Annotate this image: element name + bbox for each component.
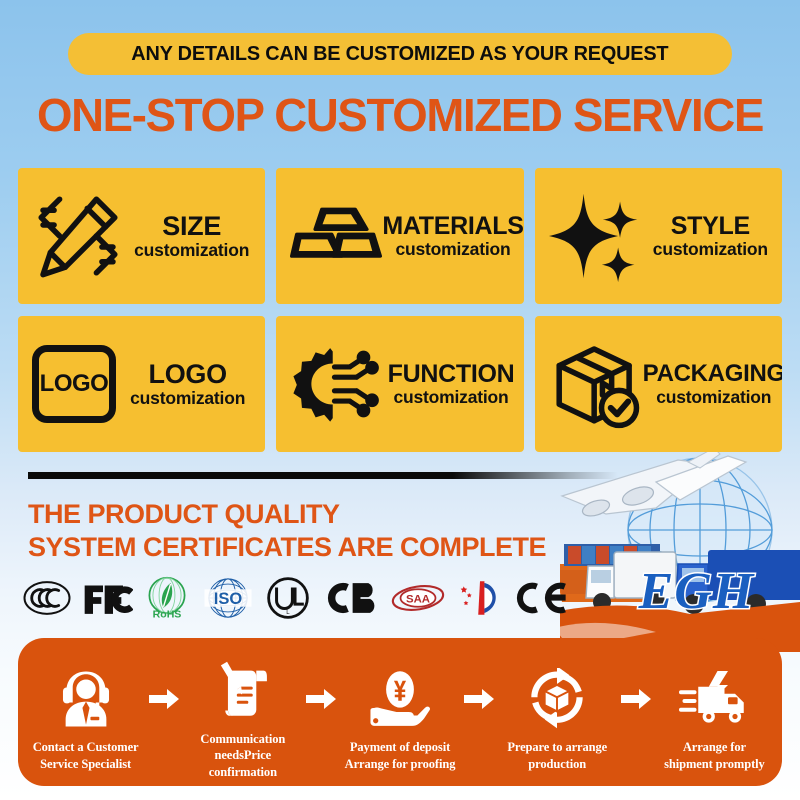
sparkle-star-icon bbox=[549, 188, 645, 284]
feature-subtitle: customization bbox=[656, 387, 771, 407]
feature-title: SIZE bbox=[162, 212, 221, 240]
delivery-truck-icon bbox=[679, 668, 749, 730]
process-arrow-icon bbox=[147, 688, 181, 736]
ccc-china-certification-badge bbox=[457, 577, 503, 619]
process-arrow-icon bbox=[619, 688, 653, 736]
feature-card-style[interactable]: STYLE customization bbox=[535, 168, 782, 304]
page-title: ONE-STOP CUSTOMIZED SERVICE bbox=[4, 88, 796, 142]
feature-title: MATERIALS bbox=[382, 213, 523, 239]
feature-title: FUNCTION bbox=[388, 361, 515, 387]
process-step-2[interactable]: Communication needsPrice confirmation bbox=[181, 644, 304, 781]
feature-card-function[interactable]: FUNCTION customization bbox=[276, 316, 523, 452]
feature-card-size-text: SIZE customization bbox=[124, 212, 259, 260]
header-badge-text: ANY DETAILS CAN BE CUSTOMIZED AS YOUR RE… bbox=[131, 42, 668, 66]
svg-text:ISO: ISO bbox=[214, 589, 243, 608]
gold-bars-icon bbox=[290, 192, 382, 280]
ul-certification-badge: L bbox=[266, 576, 310, 620]
feature-subtitle: customization bbox=[130, 388, 245, 408]
process-flow-panel: Contact a Customer Service Specialist bbox=[18, 638, 782, 786]
process-arrow-icon bbox=[462, 688, 496, 736]
process-step-list: Contact a Customer Service Specialist bbox=[18, 638, 782, 786]
quality-heading: THE PRODUCT QUALITY SYSTEM CERTIFICATES … bbox=[28, 498, 546, 564]
feature-card-logo[interactable]: LOGO LOGO customization bbox=[18, 316, 265, 452]
box-recycle-arrows-icon bbox=[525, 668, 589, 730]
process-step-label: Contact a Customer Service Specialist bbox=[33, 739, 139, 772]
feature-card-grid: SIZE customization MATERIALS customizati… bbox=[18, 168, 782, 452]
feature-card-size[interactable]: SIZE customization bbox=[18, 168, 265, 304]
ccc-certification-badge bbox=[22, 578, 72, 618]
logo-box-icon: LOGO bbox=[32, 345, 116, 423]
svg-text:RoHS: RoHS bbox=[153, 608, 182, 620]
process-step-3[interactable]: Payment of deposit Arrange for proofing bbox=[338, 652, 461, 772]
svg-text:SAA: SAA bbox=[406, 593, 430, 605]
feature-title: STYLE bbox=[671, 213, 750, 239]
section-divider bbox=[28, 472, 618, 479]
process-step-1[interactable]: Contact a Customer Service Specialist bbox=[24, 652, 147, 772]
feature-card-materials-text: MATERIALS customization bbox=[382, 213, 523, 259]
quality-heading-line1: THE PRODUCT QUALITY bbox=[28, 498, 546, 531]
feature-subtitle: customization bbox=[393, 387, 508, 407]
feature-subtitle: customization bbox=[134, 240, 249, 260]
rohs-certification-badge: RoHS bbox=[144, 576, 190, 620]
feature-card-packaging-text: PACKAGING customization bbox=[643, 361, 782, 406]
header-badge-pill: ANY DETAILS CAN BE CUSTOMIZED AS YOUR RE… bbox=[68, 33, 732, 75]
logo-box-inner-text: LOGO bbox=[40, 370, 109, 398]
feature-card-materials[interactable]: MATERIALS customization bbox=[276, 168, 523, 304]
feature-card-packaging[interactable]: PACKAGING customization bbox=[535, 316, 782, 452]
fcc-certification-badge bbox=[83, 578, 133, 618]
certification-badge-list: RoHS ISO L bbox=[22, 572, 542, 624]
svg-text:L: L bbox=[286, 609, 290, 616]
customer-service-headset-icon bbox=[55, 668, 117, 730]
process-step-label: Arrange for shipment promptly bbox=[664, 739, 765, 772]
process-step-4[interactable]: Prepare to arrange production bbox=[496, 652, 619, 772]
cb-certification-badge bbox=[321, 577, 379, 619]
brand-logo-egh: EGH bbox=[604, 566, 789, 618]
quality-heading-line2: SYSTEM CERTIFICATES ARE COMPLETE bbox=[28, 531, 546, 564]
document-pen-icon bbox=[212, 660, 274, 722]
process-step-label: Prepare to arrange production bbox=[507, 739, 607, 772]
package-check-icon bbox=[549, 338, 643, 430]
feature-title: LOGO bbox=[149, 360, 227, 388]
process-step-label: Communication needsPrice confirmation bbox=[181, 731, 304, 781]
process-step-label: Payment of deposit Arrange for proofing bbox=[345, 739, 456, 772]
feature-card-function-text: FUNCTION customization bbox=[384, 361, 517, 407]
saa-certification-badge: SAA bbox=[390, 579, 446, 617]
feature-title: PACKAGING bbox=[643, 361, 782, 386]
iso-certification-badge: ISO bbox=[201, 576, 255, 620]
feature-subtitle: customization bbox=[653, 239, 768, 259]
ruler-pencil-icon bbox=[32, 190, 124, 282]
feature-subtitle: customization bbox=[395, 239, 510, 259]
gear-circuit-icon bbox=[290, 339, 384, 429]
ce-certification-badge bbox=[514, 576, 570, 620]
process-step-5[interactable]: Arrange for shipment promptly bbox=[653, 652, 776, 772]
logistics-collage bbox=[560, 452, 800, 652]
hand-yen-coin-icon bbox=[367, 668, 433, 730]
feature-card-style-text: STYLE customization bbox=[645, 213, 776, 259]
process-arrow-icon bbox=[304, 688, 338, 736]
feature-card-logo-text: LOGO customization bbox=[116, 360, 259, 408]
